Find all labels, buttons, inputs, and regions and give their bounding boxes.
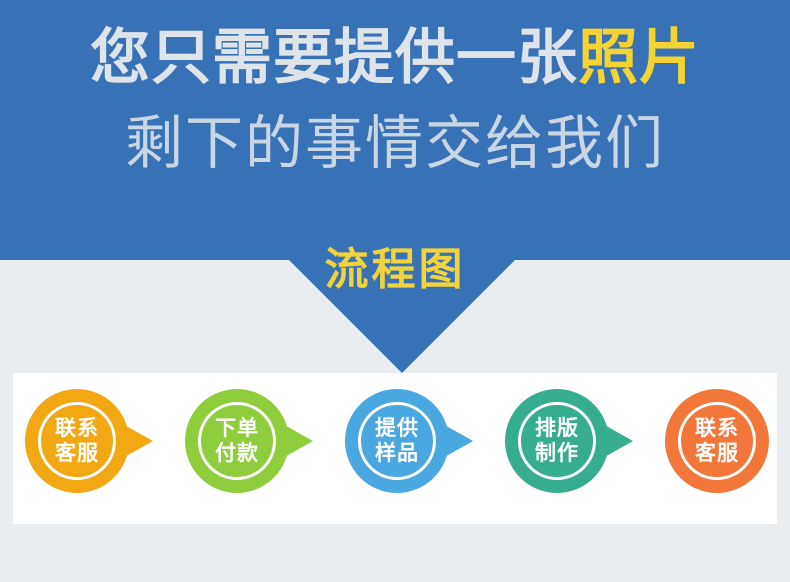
flow-step-label-line2: 制作 — [535, 441, 579, 466]
flow-step-label: 排版制作 — [505, 389, 609, 493]
flow-step-label-line1: 排版 — [535, 416, 579, 441]
flow-step-label-line2: 付款 — [215, 441, 259, 466]
flow-chart-panel: 联系客服下单付款提供样品排版制作联系客服 — [13, 373, 777, 524]
flow-step-label: 下单付款 — [185, 389, 289, 493]
flow-step-provide-sample[interactable]: 提供样品 — [345, 389, 449, 493]
flow-step-label-line2: 客服 — [695, 441, 739, 466]
flow-step-label-line1: 提供 — [375, 416, 419, 441]
flow-step-label: 联系客服 — [665, 389, 769, 493]
flow-step-label: 提供样品 — [345, 389, 449, 493]
flow-step-contact-support[interactable]: 联系客服 — [25, 389, 129, 493]
flow-step-label-line2: 样品 — [375, 441, 419, 466]
flow-step-label-line1: 下单 — [215, 416, 259, 441]
flow-step-order-payment[interactable]: 下单付款 — [185, 389, 289, 493]
banner-headline: 您只需要提供一张照片 — [0, 22, 790, 94]
flow-step-contact-support-final[interactable]: 联系客服 — [665, 389, 769, 493]
flow-step-label-line1: 联系 — [55, 416, 99, 441]
flow-step-layout-production[interactable]: 排版制作 — [505, 389, 609, 493]
flow-step-label-line2: 客服 — [55, 441, 99, 466]
banner-subline: 剩下的事情交给我们 — [0, 108, 790, 180]
flow-step-label-line1: 联系 — [695, 416, 739, 441]
banner-headline-accent: 照片 — [578, 24, 700, 91]
banner-headline-prefix: 您只需要提供一张 — [90, 24, 578, 91]
flow-step-label: 联系客服 — [25, 389, 129, 493]
flow-chart-title: 流程图 — [0, 245, 790, 295]
hero-banner: 您只需要提供一张照片 剩下的事情交给我们 — [0, 0, 790, 260]
flow-step-list: 联系客服下单付款提供样品排版制作联系客服 — [13, 373, 777, 524]
